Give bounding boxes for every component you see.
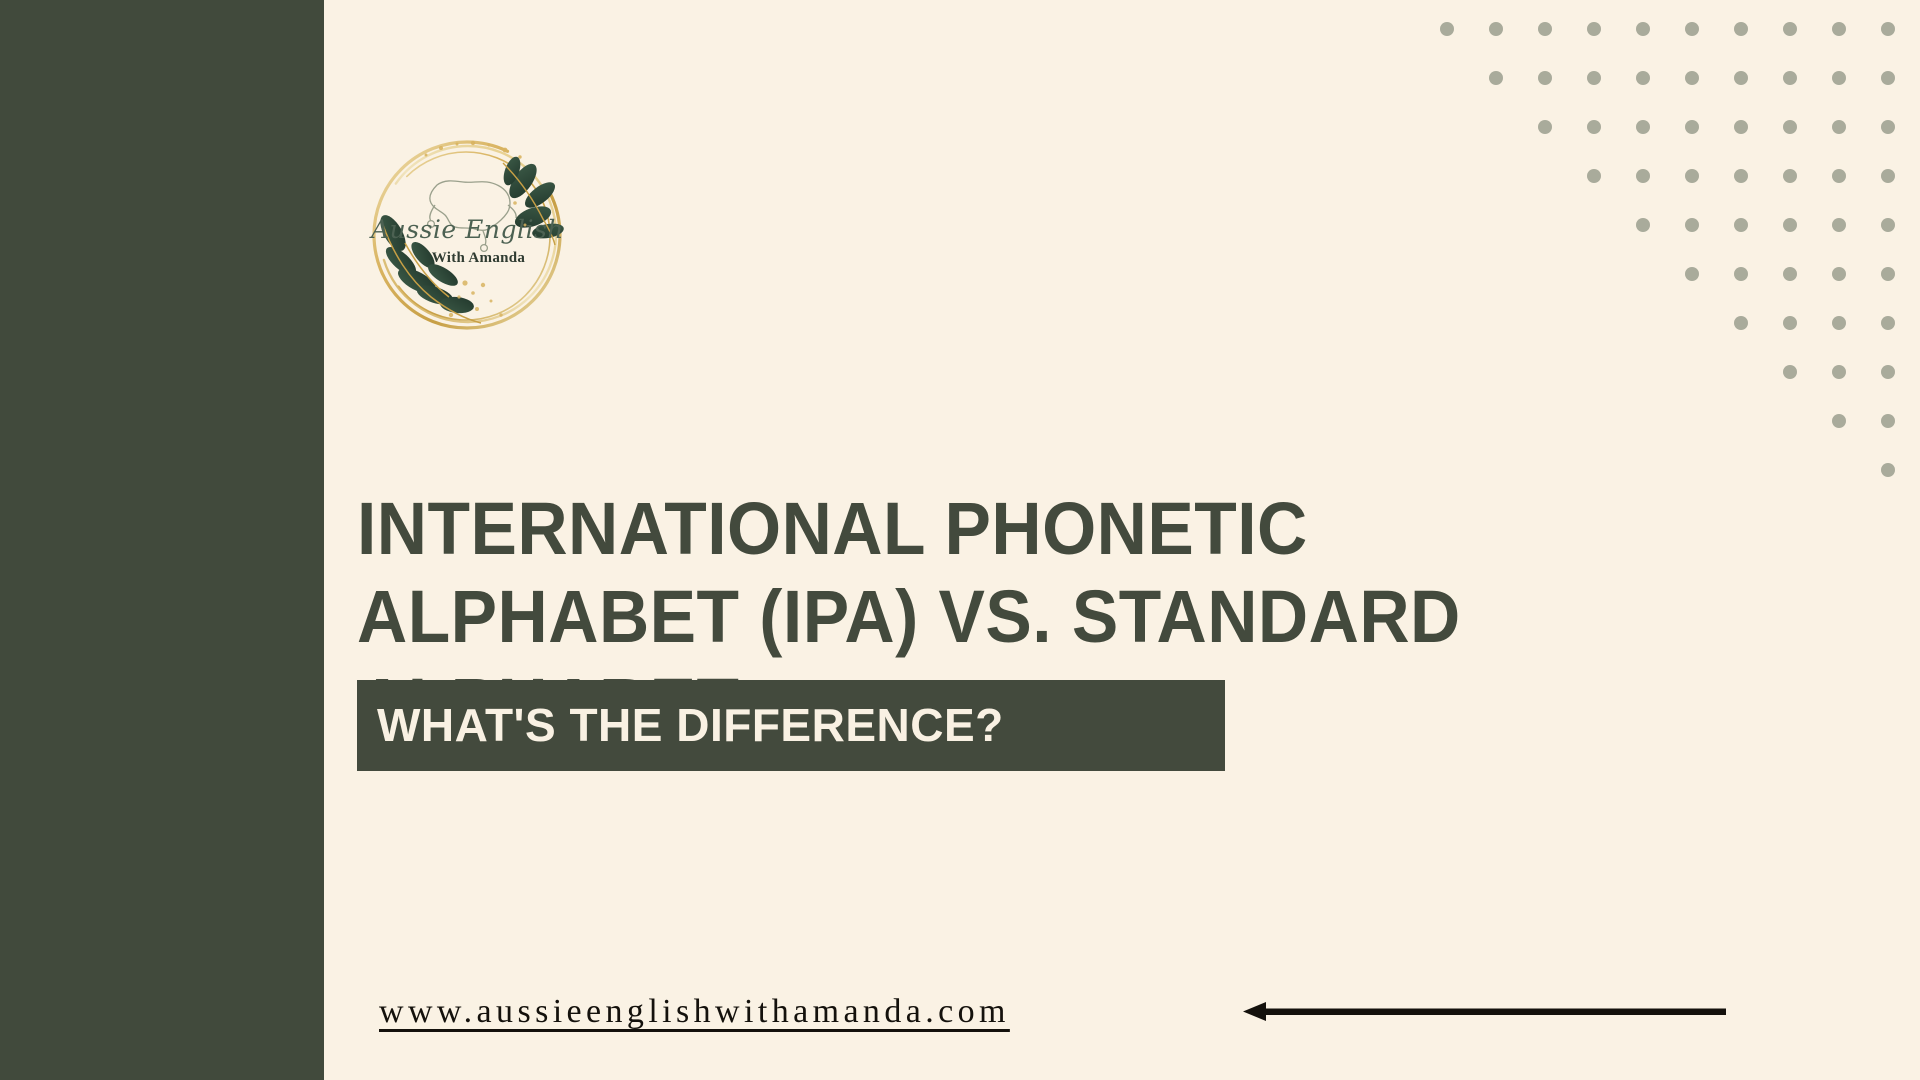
grid-dot (1538, 120, 1552, 134)
grid-dot (1881, 169, 1895, 183)
grid-dot (1881, 316, 1895, 330)
grid-dot (1881, 414, 1895, 428)
grid-dot (1783, 71, 1797, 85)
subtitle-banner: WHAT'S THE DIFFERENCE? (357, 680, 1225, 771)
grid-dot (1685, 22, 1699, 36)
grid-dot (1783, 22, 1797, 36)
grid-dot (1685, 218, 1699, 232)
logo-sub-text: With Amanda (365, 250, 570, 267)
aussie-english-logo: Aussie English With Amanda (365, 133, 570, 338)
slide-canvas: Aussie English With Amanda INTERNATIONAL… (0, 0, 1920, 1080)
grid-dot (1832, 414, 1846, 428)
grid-dot (1832, 120, 1846, 134)
grid-dot (1489, 71, 1503, 85)
grid-dot (1636, 120, 1650, 134)
grid-dot (1832, 169, 1846, 183)
dot-grid-pattern (1440, 22, 1910, 492)
grid-dot (1636, 71, 1650, 85)
grid-dot (1832, 22, 1846, 36)
grid-dot (1832, 267, 1846, 281)
grid-dot (1783, 120, 1797, 134)
grid-dot (1832, 71, 1846, 85)
grid-dot (1832, 218, 1846, 232)
grid-dot (1636, 218, 1650, 232)
grid-dot (1881, 365, 1895, 379)
grid-dot (1636, 22, 1650, 36)
grid-dot (1685, 267, 1699, 281)
grid-dot (1587, 71, 1601, 85)
subtitle-text: WHAT'S THE DIFFERENCE? (377, 700, 1004, 750)
grid-dot (1783, 267, 1797, 281)
left-arrow-icon (1240, 998, 1730, 1026)
grid-dot (1685, 71, 1699, 85)
grid-dot (1881, 218, 1895, 232)
grid-dot (1783, 365, 1797, 379)
grid-dot (1636, 169, 1650, 183)
grid-dot (1734, 71, 1748, 85)
grid-dot (1734, 120, 1748, 134)
grid-dot (1881, 463, 1895, 477)
grid-dot (1881, 22, 1895, 36)
website-url[interactable]: www.aussieenglishwithamanda.com (379, 993, 1010, 1031)
grid-dot (1783, 316, 1797, 330)
left-accent-bar (0, 0, 324, 1080)
grid-dot (1734, 267, 1748, 281)
grid-dot (1685, 120, 1699, 134)
grid-dot (1587, 169, 1601, 183)
grid-dot (1734, 22, 1748, 36)
grid-dot (1881, 267, 1895, 281)
grid-dot (1734, 218, 1748, 232)
grid-dot (1685, 169, 1699, 183)
logo-script-text: Aussie English (365, 215, 570, 244)
grid-dot (1489, 22, 1503, 36)
grid-dot (1734, 169, 1748, 183)
grid-dot (1538, 22, 1552, 36)
grid-dot (1783, 218, 1797, 232)
grid-dot (1783, 169, 1797, 183)
grid-dot (1440, 22, 1454, 36)
grid-dot (1734, 316, 1748, 330)
grid-dot (1881, 71, 1895, 85)
grid-dot (1881, 120, 1895, 134)
grid-dot (1587, 22, 1601, 36)
grid-dot (1832, 316, 1846, 330)
grid-dot (1832, 365, 1846, 379)
grid-dot (1587, 120, 1601, 134)
grid-dot (1538, 71, 1552, 85)
